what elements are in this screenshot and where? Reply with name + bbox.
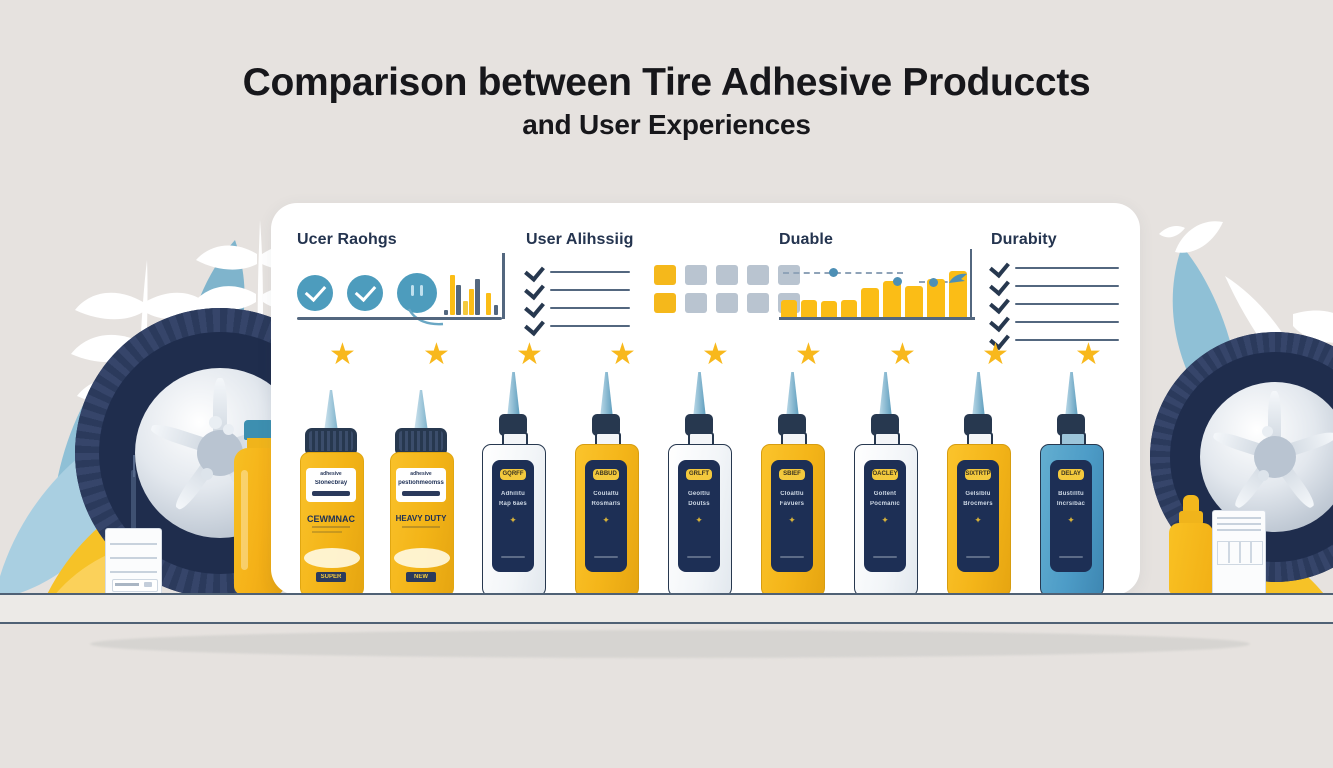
trend-point <box>893 277 902 286</box>
bottle-decor-right <box>1169 495 1213 595</box>
panel-durability: Durabity <box>991 231 1131 351</box>
checklist-item <box>991 297 1131 310</box>
label-main-text: CEWMNAC <box>300 514 362 524</box>
label-line-1: Gelslblu <box>957 491 999 497</box>
label-badge: DELAY <box>1058 469 1084 480</box>
product-bottle-7[interactable]: OACLEY Goltent Pocmanic ✦ <box>854 372 916 595</box>
label-badge: GRLFT <box>686 469 712 480</box>
checklist-item <box>526 301 636 314</box>
shelf-surface <box>0 595 1333 622</box>
label-line-2: Rosmarls <box>585 501 627 507</box>
check-icon <box>524 315 545 336</box>
checklist <box>991 261 1131 346</box>
badge-text: GRLFT <box>686 469 712 479</box>
trend-point <box>929 278 938 287</box>
badge-text: DELAY <box>1058 469 1084 479</box>
shelf-bottom-edge <box>0 622 1333 624</box>
panel-durable: Duable <box>779 231 989 319</box>
panel-title: Ucer Raohgs <box>297 231 497 249</box>
panel-title: User Alihssiig <box>526 231 756 249</box>
checklist-item <box>526 283 636 296</box>
bottle-label: OACLEY Goltent Pocmanic ✦ <box>864 460 906 572</box>
label-mark-icon: ✦ <box>585 515 627 526</box>
label-badge: GQRFF <box>500 469 526 480</box>
label-mark-icon: ✦ <box>771 515 813 526</box>
label-top-text: adhesive <box>306 471 356 477</box>
bottle-cap <box>305 428 357 454</box>
grid-cell <box>716 293 738 313</box>
label-mark-icon: ✦ <box>1050 515 1092 526</box>
check-circle-icon <box>347 275 383 311</box>
bottle-label: ABBUD Coulaltu Rosmarls ✦ <box>585 460 627 572</box>
nozzle-icon <box>324 390 338 432</box>
grid-cell <box>685 265 707 285</box>
label-line-2: Brocmers <box>957 501 999 507</box>
nozzle-icon <box>1065 372 1078 418</box>
checklist-item <box>991 333 1131 346</box>
product-bottle-6[interactable]: SBIEF Cloaltlu Favuers ✦ <box>761 372 823 595</box>
label-bottom-text: NEW <box>390 574 452 580</box>
bottle-label: SIXTRTP Gelslblu Brocmers ✦ <box>957 460 999 572</box>
checklist-item <box>991 279 1131 292</box>
grid-cell <box>716 265 738 285</box>
label-mark-icon: ✦ <box>678 515 720 526</box>
nozzle-icon <box>600 372 613 418</box>
product-bottle-3[interactable]: GQRFF Adhilitu Rap 6aes ✦ <box>482 372 544 595</box>
label-mark-icon: ✦ <box>492 515 534 526</box>
badge-text: SIXTRTP <box>965 469 991 479</box>
label-sub-text: Slonecbray <box>306 480 356 486</box>
product-bottle-9[interactable]: DELAY Bustilltu Incrsibac ✦ <box>1040 372 1102 595</box>
grid-cell <box>747 293 769 313</box>
label-line-2: Rap 6aes <box>492 501 534 507</box>
label-sub-text: pestiohmeomss <box>396 480 446 486</box>
checklist-item <box>991 261 1131 274</box>
page-title: Comparison between Tire Adhesive Producc… <box>0 62 1333 146</box>
label-badge: ABBUD <box>593 469 619 480</box>
label-line-2: Incrsibac <box>1050 501 1092 507</box>
label-line-1: Goltent <box>864 491 906 497</box>
product-bottle-2[interactable]: adhesive pestiohmeomss HEAVY DUTY NEW <box>390 390 452 595</box>
grid-cell <box>654 265 676 285</box>
label-badge: SIXTRTP <box>965 469 991 480</box>
bottle-label: DELAY Bustilltu Incrsibac ✦ <box>1050 460 1092 572</box>
label-line-2: Doutss <box>678 501 720 507</box>
mini-bar-chart <box>444 267 500 315</box>
badge-text: ABBUD <box>593 469 619 479</box>
shelf-shadow <box>90 630 1250 658</box>
title-line-2: and User Experiences <box>0 104 1333 146</box>
checklist-item <box>526 265 636 278</box>
grid-cell <box>747 265 769 285</box>
product-bottle-4[interactable]: ABBUD Coulaltu Rosmarls ✦ <box>575 372 637 595</box>
check-circle-icon <box>297 275 333 311</box>
panel-title: Duable <box>779 231 989 249</box>
checklist-item <box>991 315 1131 328</box>
bottle-cap <box>395 428 447 454</box>
nozzle-icon <box>507 372 520 418</box>
label-bottom-text: SUPER <box>300 574 362 580</box>
label-line-2: Pocmanic <box>864 501 906 507</box>
label-line-1: Adhilitu <box>492 491 534 497</box>
nozzle-icon <box>414 390 428 432</box>
panel-title: Durabity <box>991 231 1131 249</box>
durable-bar-chart <box>779 261 989 319</box>
label-line-1: Bustilltu <box>1050 491 1092 497</box>
bottle-label: adhesive pestiohmeomss <box>396 468 446 502</box>
label-badge: OACLEY <box>872 469 898 480</box>
label-mark-icon: ✦ <box>957 515 999 526</box>
badge-text: GQRFF <box>500 469 526 479</box>
panel-user-adhesive: User Alihssiig <box>526 231 756 319</box>
nozzle-icon <box>693 372 706 418</box>
checklist-item <box>526 319 636 332</box>
nozzle-icon <box>786 372 799 418</box>
badge-text: OACLEY <box>872 469 898 479</box>
label-line-1: Cloaltlu <box>771 491 813 497</box>
bottle-label: GRLFT Geoltlu Doutss ✦ <box>678 460 720 572</box>
label-top-text: adhesive <box>396 471 446 477</box>
product-bottle-1[interactable]: adhesive Slonecbray CEWMNAC SUPER <box>300 390 362 595</box>
product-box-right <box>1212 510 1266 597</box>
label-line-1: Coulaltu <box>585 491 627 497</box>
title-line-1: Comparison between Tire Adhesive Producc… <box>0 62 1333 104</box>
product-bottle-5[interactable]: GRLFT Geoltlu Doutss ✦ <box>668 372 730 595</box>
label-line-2: Favuers <box>771 501 813 507</box>
grid-cell <box>685 293 707 313</box>
bottle-label: GQRFF Adhilitu Rap 6aes ✦ <box>492 460 534 572</box>
nozzle-icon <box>972 372 985 418</box>
badge-text: SBIEF <box>779 469 805 479</box>
label-line-1: Geoltlu <box>678 491 720 497</box>
trend-point <box>829 268 838 277</box>
bottle-label: adhesive Slonecbray <box>306 468 356 502</box>
leaf-icon <box>1155 210 1245 280</box>
bottle-label: SBIEF Cloaltlu Favuers ✦ <box>771 460 813 572</box>
illustration-canvas: Comparison between Tire Adhesive Producc… <box>0 0 1333 768</box>
label-badge: SBIEF <box>779 469 805 480</box>
panel-user-ratings: Ucer Raohgs <box>297 231 497 321</box>
applicator-tool-tip-icon <box>133 455 135 477</box>
label-mark-icon: ✦ <box>864 515 906 526</box>
nozzle-icon <box>879 372 892 418</box>
product-bottle-8[interactable]: SIXTRTP Gelslblu Brocmers ✦ <box>947 372 1009 595</box>
grid-cell <box>654 293 676 313</box>
trend-arrow-icon <box>947 271 969 287</box>
chart-baseline <box>297 317 502 320</box>
checklist <box>526 265 636 337</box>
product-box-left <box>105 528 162 596</box>
label-main-text: HEAVY DUTY <box>390 514 452 523</box>
